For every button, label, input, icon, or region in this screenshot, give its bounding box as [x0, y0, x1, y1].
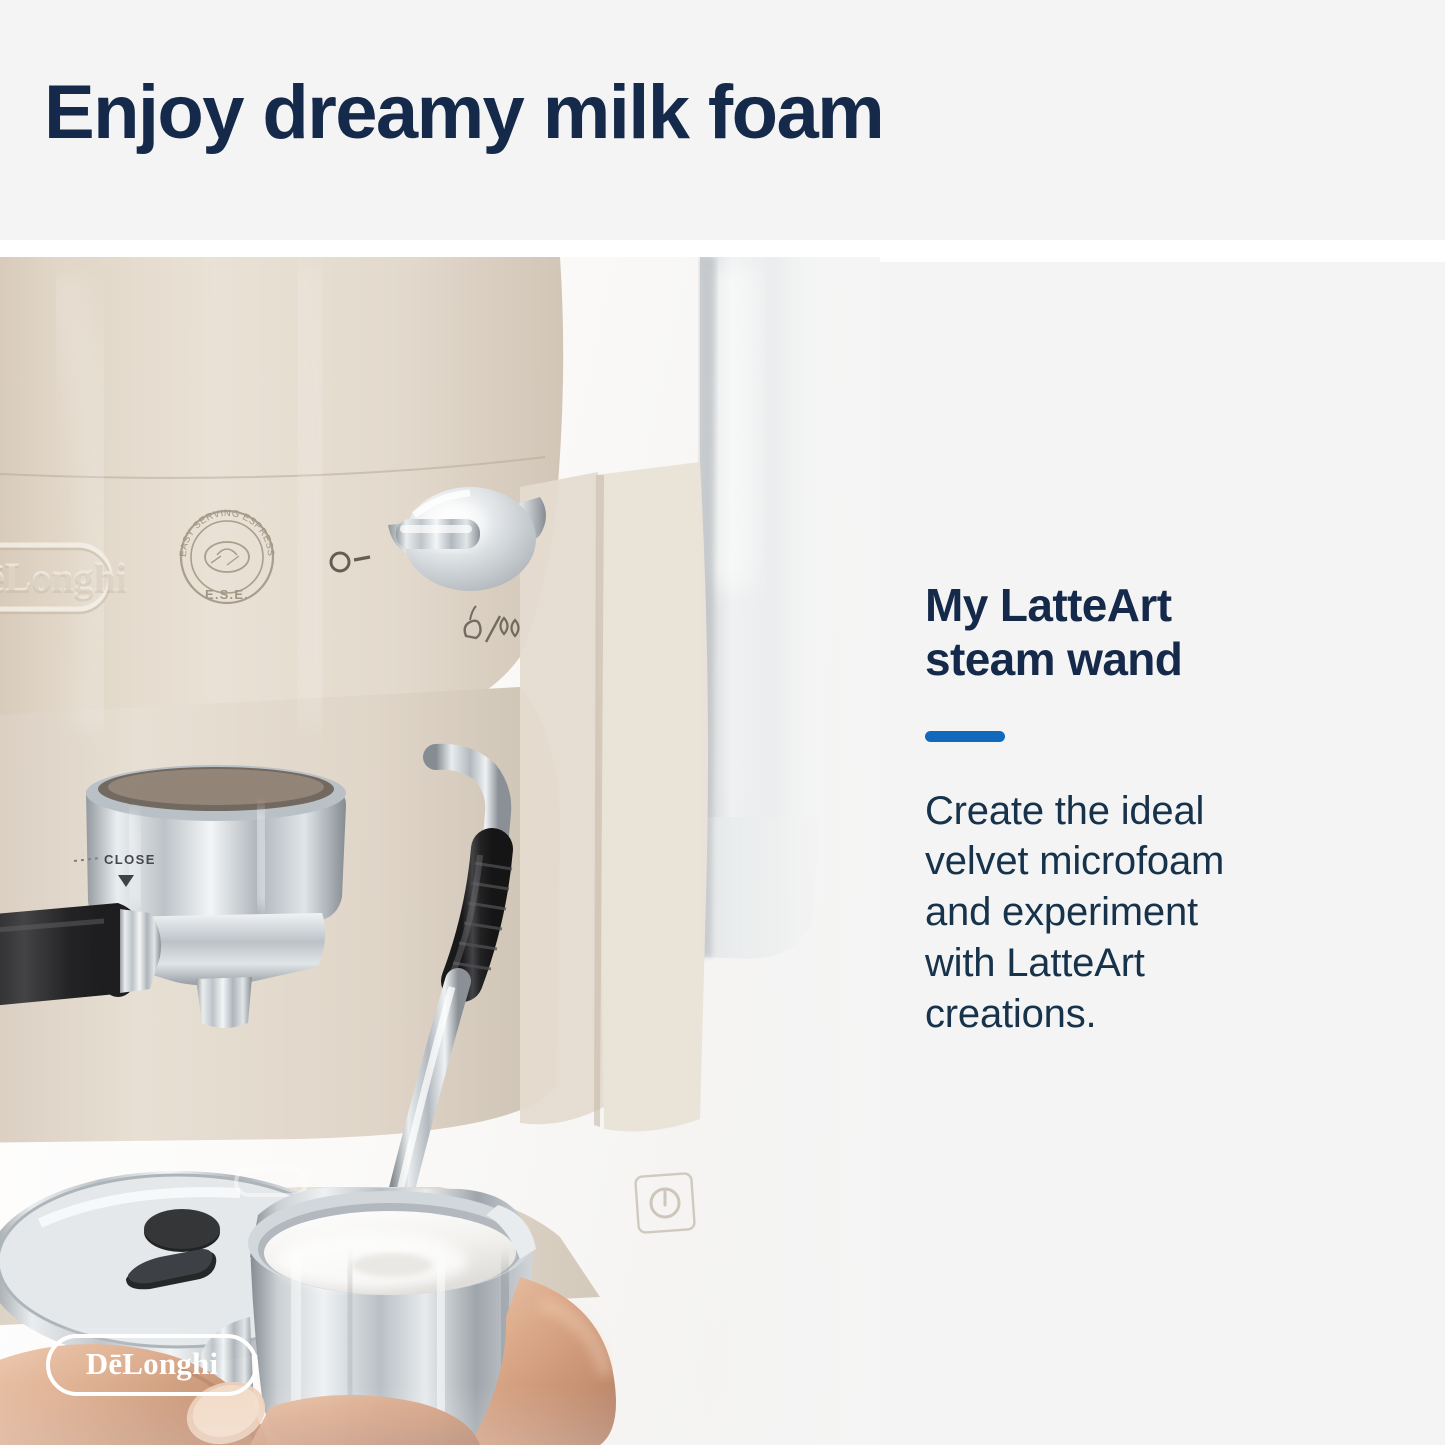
feature-divider-rule: [925, 731, 1005, 742]
feature-title: My LatteArt steam wand: [925, 578, 1345, 687]
feature-description: Create the ideal velvet microfoam and ex…: [925, 786, 1345, 1040]
page-title: Enjoy dreamy milk foam: [44, 74, 883, 152]
feature-copy-block: My LatteArt steam wand Create the ideal …: [925, 578, 1345, 1080]
page-root: Enjoy dreamy milk foam: [0, 0, 1445, 1445]
delonghi-logo: DēLonghi: [46, 1334, 258, 1396]
product-photo: DēLonghi DēLonghi E.S.E. EASY SERVING ES…: [0, 257, 880, 1445]
delonghi-logo-text: DēLonghi: [86, 1346, 219, 1382]
header-band: Enjoy dreamy milk foam: [0, 0, 1445, 240]
